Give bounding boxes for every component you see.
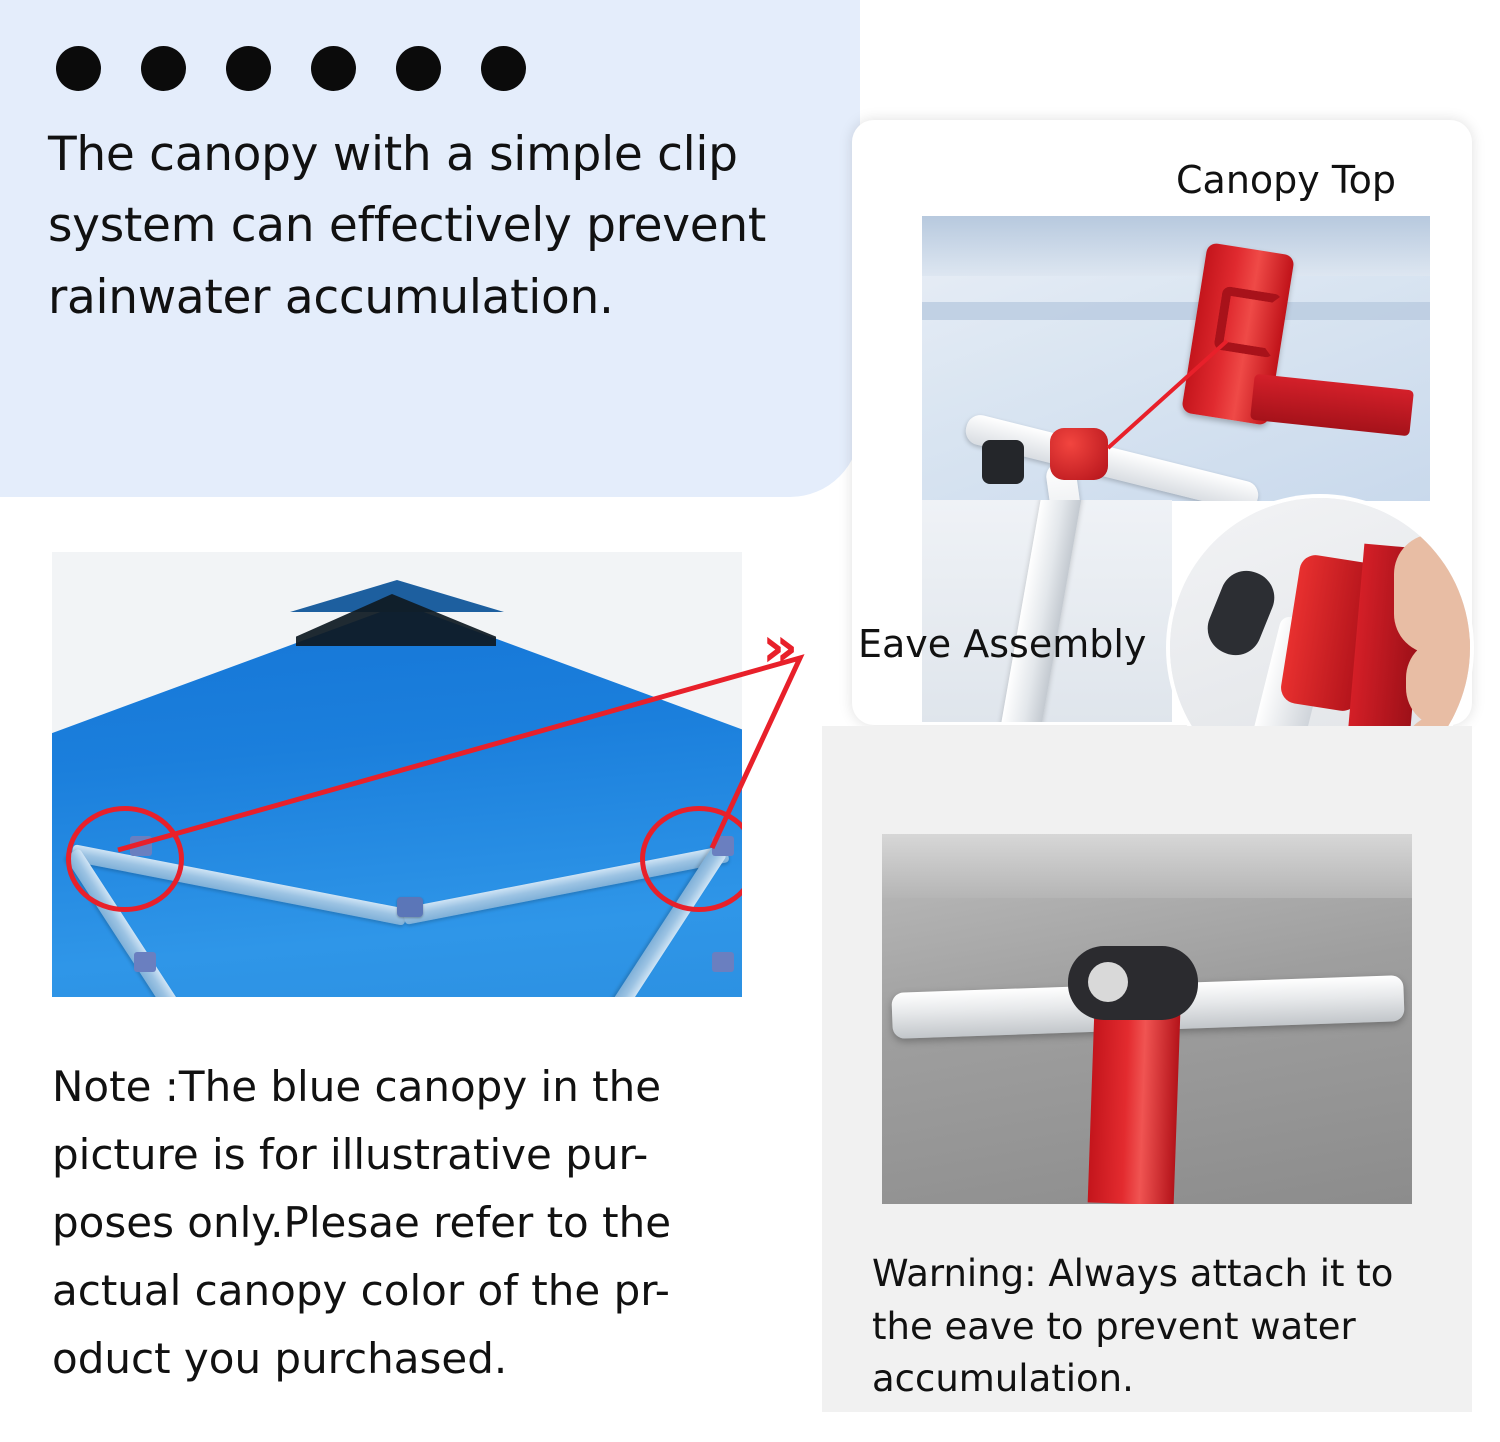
canopy-top-photo xyxy=(922,216,1430,501)
note-text: Note :The blue canopy in the picture is … xyxy=(52,1053,752,1393)
canopy-overview-photo xyxy=(52,552,742,997)
headline-callout: The canopy with a simple clip system can… xyxy=(0,0,860,497)
black-knob xyxy=(982,440,1024,484)
warning-photo xyxy=(882,834,1412,1204)
buckle-hole xyxy=(1088,962,1128,1002)
warning-text: Warning: Always attach it to the eave to… xyxy=(872,1248,1452,1406)
red-knob xyxy=(1050,428,1108,480)
strap-hook-icon xyxy=(1213,286,1282,359)
bullet-dot-icon xyxy=(311,46,356,91)
eave-assembly-label: Eave Assembly xyxy=(858,622,1146,666)
canopy-edge xyxy=(922,216,1430,276)
headline-text: The canopy with a simple clip system can… xyxy=(48,119,820,333)
bullet-dot-icon xyxy=(226,46,271,91)
clip-bottom-left xyxy=(134,952,156,972)
bullet-dot-icon xyxy=(141,46,186,91)
grey-canopy-top-edge xyxy=(882,834,1412,898)
bullet-dot-icon xyxy=(481,46,526,91)
frame-center-hub xyxy=(397,897,423,917)
canopy-seam xyxy=(922,302,1430,320)
bullet-dots-row xyxy=(56,46,820,91)
highlight-circle-left xyxy=(66,806,184,912)
hand-finger xyxy=(1394,534,1470,654)
eave-assembly-photo xyxy=(922,500,1172,722)
chevron-right-icon: » xyxy=(762,620,788,676)
bullet-dot-icon xyxy=(396,46,441,91)
canopy-top-label: Canopy Top xyxy=(1176,158,1396,202)
clip-bottom-right xyxy=(712,952,734,972)
bullet-dot-icon xyxy=(56,46,101,91)
